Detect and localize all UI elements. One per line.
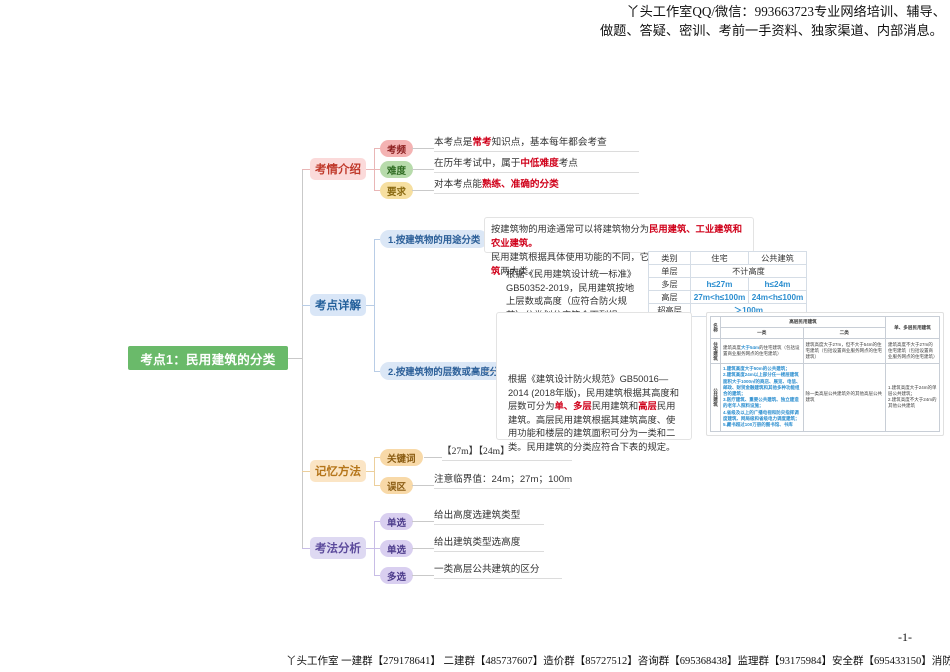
td-public-name: 公共建筑 bbox=[711, 363, 721, 431]
leaf-kaopin-post: 知识点，基本每年都会考查 bbox=[492, 137, 607, 148]
connector-b4-i1-leaf bbox=[412, 521, 434, 522]
td-public-one-2: 2.建筑高度24m以上部分任一楼层建筑面积大于1000㎡的商店、展览、电信、邮政… bbox=[723, 372, 801, 397]
table-building-classification-wrap: 名称 高层民用建筑 单、多层民用建筑 一类 二类 住宅建筑 建筑高度大于54m的… bbox=[706, 312, 944, 436]
text-gb50016: 根据《建筑设计防火规范》GB50016—2014 (2018年版)，民用建筑根据… bbox=[508, 373, 684, 454]
page-footer: 丫头工作室 一建群【279178641】 二建群【485737607】造价群【8… bbox=[286, 653, 946, 668]
leaf-yaoqiu-hl: 熟练、准确的分类 bbox=[482, 179, 559, 190]
pill-danxuan-1[interactable]: 单选 bbox=[380, 513, 413, 530]
root-node[interactable]: 考点1：民用建筑的分类 bbox=[128, 346, 288, 370]
leaf-duoxuan: 一类高层公共建筑的区分 bbox=[434, 561, 562, 579]
connector-b3-i2-leaf bbox=[412, 485, 434, 486]
connector-b2-s2-card bbox=[485, 371, 495, 372]
td-multi-residential: h≤27m bbox=[691, 278, 749, 291]
connector-root-spine bbox=[302, 169, 303, 548]
connector-b2-out bbox=[366, 305, 374, 306]
pill-danxuan-2[interactable]: 单选 bbox=[380, 540, 413, 557]
page-header: 丫头工作室QQ/微信：993663723专业网络培训、辅导、 做题、答疑、密训、… bbox=[600, 2, 948, 40]
td-high-public: 24m<h≤100m bbox=[749, 291, 807, 304]
leaf-danxuan-1: 给出高度选建筑类型 bbox=[434, 507, 544, 525]
th-low-multi: 单、多层民用建筑 bbox=[886, 317, 940, 339]
leaf-nandu: 在历年考试中，属于中低难度考点 bbox=[434, 155, 639, 173]
pill-kaopin[interactable]: 考频 bbox=[380, 140, 413, 157]
leaf-kaopin: 本考点是常考知识点，基本每年都会考查 bbox=[434, 134, 639, 152]
mindmap-page: 丫头工作室QQ/微信：993663723专业网络培训、辅导、 做题、答疑、密训、… bbox=[0, 0, 950, 672]
table-row: 公共建筑 1.建筑高度大于50m的公共建筑； 2.建筑高度24m以上部分任一楼层… bbox=[711, 363, 940, 431]
connector-b1-i2-leaf bbox=[412, 169, 434, 170]
connector-b4-i2-leaf bbox=[412, 548, 434, 549]
td-single-layer-value: 不计高度 bbox=[691, 265, 807, 278]
table-building-classification: 名称 高层民用建筑 单、多层民用建筑 一类 二类 住宅建筑 建筑高度大于54m的… bbox=[710, 316, 940, 432]
connector-root-trunk bbox=[288, 358, 302, 359]
leaf-nandu-post: 考点 bbox=[559, 158, 578, 169]
branch-kaodianxiangjie[interactable]: 考点详解 bbox=[310, 294, 366, 316]
th-name: 名称 bbox=[711, 317, 721, 339]
th-residential: 住宅 bbox=[691, 252, 749, 265]
td-public-two: 除一类高层公共建筑外的其他高层公共建筑 bbox=[803, 363, 886, 431]
connector-branch1 bbox=[302, 169, 310, 170]
header-line-2: 做题、答疑、密训、考前一手资料、独家渠道、内部消息。 bbox=[600, 21, 948, 40]
td-public-last: 1.建筑高度大于24m的单层公共建筑； 2.建筑高度不大于24m的其他公共建筑 bbox=[886, 363, 940, 431]
leaf-nandu-pre: 在历年考试中，属于 bbox=[434, 158, 520, 169]
th-class-two: 二类 bbox=[803, 328, 886, 339]
leaf-kaopin-pre: 本考点是 bbox=[434, 137, 472, 148]
connector-b3-out bbox=[366, 471, 374, 472]
table-row: 单层 不计高度 bbox=[649, 265, 807, 278]
branch-jiyifangfa[interactable]: 记忆方法 bbox=[310, 460, 366, 482]
connector-b4-i3-leaf bbox=[412, 575, 434, 576]
connector-b2-spine bbox=[374, 239, 375, 371]
leaf-yaoqiu: 对本考点能熟练、准确的分类 bbox=[434, 176, 639, 194]
subnode-usage-classification[interactable]: 1.按建筑物的用途分类 bbox=[380, 230, 488, 248]
leaf-kaopin-hl: 常考 bbox=[472, 137, 491, 148]
pill-nandu[interactable]: 难度 bbox=[380, 161, 413, 178]
header-line-1: 丫头工作室QQ/微信：993663723专业网络培训、辅导、 bbox=[600, 2, 948, 21]
branch-kaofafenxi[interactable]: 考法分析 bbox=[310, 537, 366, 559]
td-public-last-2: 2.建筑高度不大于24m的其他公共建筑 bbox=[888, 397, 937, 409]
leaf-yaoqiu-pre: 对本考点能 bbox=[434, 179, 482, 190]
td-high-rise: 高层 bbox=[649, 291, 691, 304]
connector-b3-spine bbox=[374, 457, 375, 485]
leaf-nandu-hl: 中低难度 bbox=[520, 158, 558, 169]
pill-yaoqiu[interactable]: 要求 bbox=[380, 182, 413, 199]
td-multi-public: h≤24m bbox=[749, 278, 807, 291]
connector-b1-i3-leaf bbox=[412, 190, 434, 191]
leaf-guanjianci: 【27m】【24m】 bbox=[442, 443, 572, 461]
connector-b3-i1-leaf bbox=[424, 457, 442, 458]
table-row: 多层 h≤27m h≤24m bbox=[649, 278, 807, 291]
th-highrise-group: 高层民用建筑 bbox=[721, 317, 886, 328]
td-residential-one: 建筑高度大于54m的住宅建筑（包括设置商业服务网点的住宅建筑） bbox=[721, 339, 804, 363]
td-multi-layer: 多层 bbox=[649, 278, 691, 291]
pill-duoxuan[interactable]: 多选 bbox=[380, 567, 413, 584]
connector-branch4 bbox=[302, 548, 310, 549]
table-row: 高层 27m<h≤100m 24m<h≤100m bbox=[649, 291, 807, 304]
td-residential-two: 建筑高度大于27m，但不大于54m的住宅建筑（包括设置商业服务网点的住宅建筑） bbox=[803, 339, 886, 363]
table-row: 住宅建筑 建筑高度大于54m的住宅建筑（包括设置商业服务网点的住宅建筑） 建筑高… bbox=[711, 339, 940, 363]
pill-wuqu[interactable]: 误区 bbox=[380, 477, 413, 494]
connector-b1-out bbox=[366, 169, 374, 170]
table-row: 类别 住宅 公共建筑 bbox=[649, 252, 807, 265]
table-row: 名称 高层民用建筑 单、多层民用建筑 bbox=[711, 317, 940, 328]
branch-kaoqingjieshao[interactable]: 考情介绍 bbox=[310, 158, 366, 180]
connector-branch2 bbox=[302, 305, 310, 306]
td-public-one-4: 4.省级及以上的广播电视和防灾指挥调度建筑、网局级和省级电力调度建筑； bbox=[723, 410, 801, 422]
td-public-last-1: 1.建筑高度大于24m的单层公共建筑； bbox=[888, 385, 937, 397]
th-category: 类别 bbox=[649, 252, 691, 265]
td-single-layer: 单层 bbox=[649, 265, 691, 278]
th-public: 公共建筑 bbox=[749, 252, 807, 265]
td-public-one: 1.建筑高度大于50m的公共建筑； 2.建筑高度24m以上部分任一楼层建筑面积大… bbox=[721, 363, 804, 431]
td-high-residential: 27m<h≤100m bbox=[691, 291, 749, 304]
connector-b1-i1-leaf bbox=[412, 148, 434, 149]
pill-guanjianci[interactable]: 关键词 bbox=[380, 449, 423, 466]
td-public-one-5: 5.藏书超过100万册的图书馆、书库 bbox=[723, 422, 801, 428]
connector-branch3 bbox=[302, 471, 310, 472]
td-residential-last: 建筑高度不大于27m的住宅建筑（包括设置商业服务网点的住宅建筑） bbox=[886, 339, 940, 363]
leaf-wuqu: 注意临界值：24m；27m；100m bbox=[434, 471, 570, 489]
page-number: -1- bbox=[898, 630, 912, 645]
table-height-classification: 类别 住宅 公共建筑 单层 不计高度 多层 h≤27m h≤24m 高层 27m… bbox=[648, 251, 807, 317]
card-usage-classification: 按建筑物的用途通常可以将建筑物分为民用建筑、工业建筑和农业建筑。 民用建筑根据具… bbox=[484, 217, 754, 253]
th-class-one: 一类 bbox=[721, 328, 804, 339]
connector-b4-out bbox=[366, 548, 374, 549]
td-public-one-3: 3.医疗建筑、重要公共建筑、独立建造的老年人照料设施； bbox=[723, 397, 801, 409]
leaf-danxuan-2: 给出建筑类型选高度 bbox=[434, 534, 544, 552]
card-usage-line1: 按建筑物的用途通常可以将建筑物分为民用建筑、工业建筑和农业建筑。 bbox=[491, 222, 747, 250]
td-residential-name: 住宅建筑 bbox=[711, 339, 721, 363]
